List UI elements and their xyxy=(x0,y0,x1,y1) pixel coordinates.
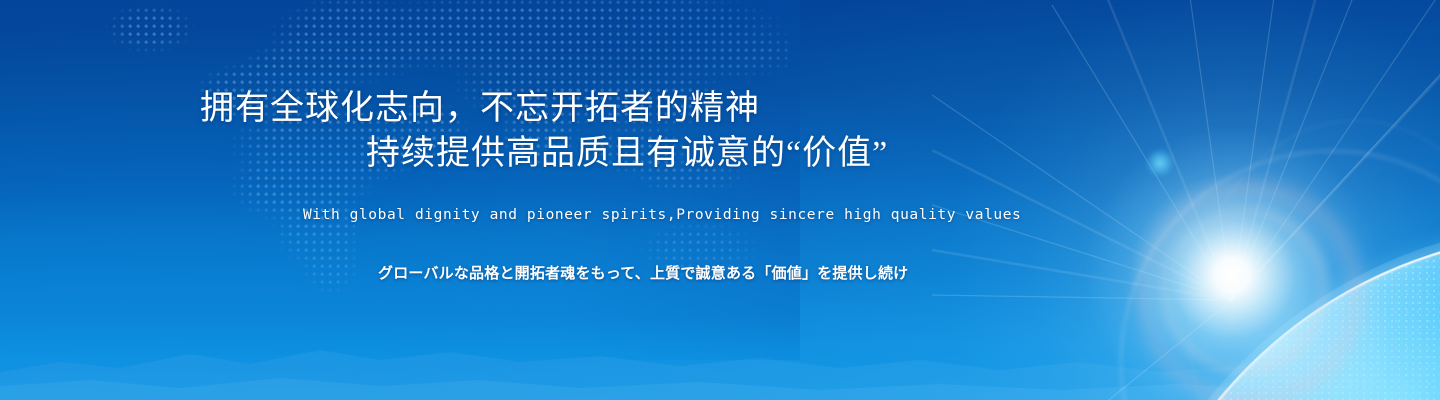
subtitle-japanese: グローバルな品格と開拓者魂をもって、上質で誠意ある「価値」を提供し続け xyxy=(378,262,908,283)
subtitle-english: With global dignity and pioneer spirits,… xyxy=(303,207,1021,223)
headline-line-2: 持续提供高品质且有诚意的“价值” xyxy=(366,137,888,171)
banner-copy-block: 拥有全球化志向，不忘开拓者的精神 持续提供高品质且有诚意的“价值” With g… xyxy=(0,0,1000,400)
headline-line-1: 拥有全球化志向，不忘开拓者的精神 xyxy=(200,92,760,126)
lens-flare-orb-icon xyxy=(1147,150,1173,176)
planet-surface-texture xyxy=(1118,236,1440,400)
planet-globe-icon xyxy=(1118,236,1440,400)
hero-banner: 拥有全球化志向，不忘开拓者的精神 持续提供高品质且有诚意的“价值” With g… xyxy=(0,0,1440,400)
